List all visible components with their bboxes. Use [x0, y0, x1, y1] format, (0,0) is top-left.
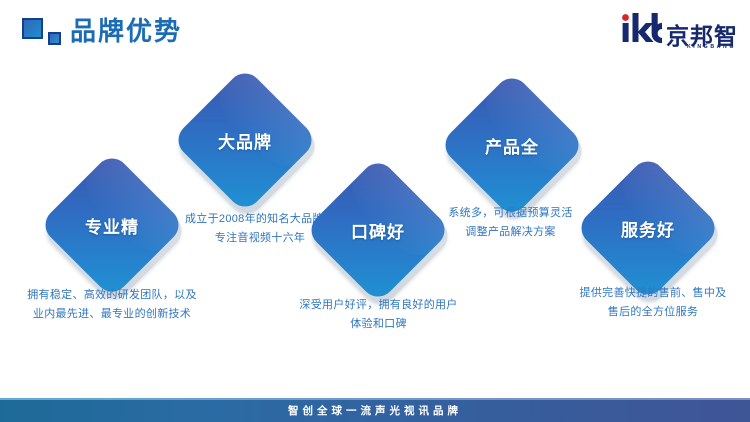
- footer-bar: 智创全球一流声光视讯品牌: [0, 398, 750, 422]
- decor-square-small-icon: [48, 32, 61, 45]
- page-title: 品牌优势: [70, 14, 182, 48]
- feature-diamond-2[interactable]: 大品牌: [193, 88, 297, 192]
- feature-caption-1: 拥有稳定、高效的研发团队，以及业内最先进、最专业的创新技术: [22, 286, 202, 324]
- logo-mark-kb-icon: [618, 13, 662, 48]
- feature-caption-3: 深受用户好评，拥有良好的用户体验和口碑: [296, 296, 461, 334]
- feature-label-5: 服务好: [596, 176, 700, 280]
- feature-diamond-1[interactable]: 专业精: [60, 173, 164, 277]
- decor-square-large-icon: [22, 18, 43, 39]
- feature-diamond-3[interactable]: 口碑好: [326, 178, 430, 282]
- slide-canvas: 品牌优势 京邦智 KINGBANG 专业精 拥有稳定、高效的研发团队，以及业内最…: [0, 0, 750, 422]
- feature-caption-4: 系统多，可根据预算灵活调整产品解决方案: [448, 204, 573, 242]
- logo-latin-text: KINGBANG: [687, 44, 736, 50]
- logo-wordmark: 京邦智 KINGBANG: [662, 24, 738, 48]
- feature-diamond-4[interactable]: 产品全: [460, 93, 564, 197]
- feature-label-4: 产品全: [460, 93, 564, 197]
- feature-label-1: 专业精: [60, 173, 164, 277]
- footer-highlight-line: [0, 398, 750, 400]
- feature-label-3: 口碑好: [326, 178, 430, 282]
- feature-diamond-5[interactable]: 服务好: [596, 176, 700, 280]
- feature-caption-5: 提供完善快捷的售前、售中及售后的全方位服务: [578, 284, 728, 322]
- feature-label-2: 大品牌: [193, 88, 297, 192]
- footer-slogan: 智创全球一流声光视讯品牌: [288, 403, 462, 418]
- brand-logo: 京邦智 KINGBANG: [618, 12, 738, 48]
